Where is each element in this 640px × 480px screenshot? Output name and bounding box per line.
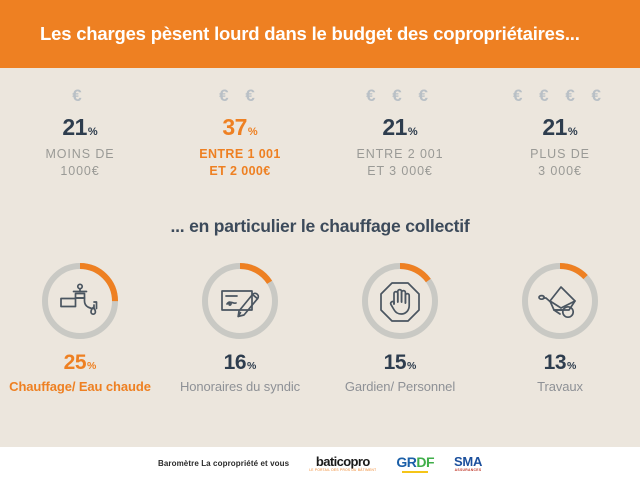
budget-percent-4: 21% [480, 116, 640, 139]
budget-label-line2: ET 3 000€ [320, 163, 480, 180]
donut-label-2: Honoraires du syndic [160, 379, 320, 394]
budget-label-1: MOINS DE 1000€ [0, 146, 160, 180]
budget-stat-1: € 21% MOINS DE 1000€ [0, 84, 160, 180]
percent-sign: % [247, 360, 256, 372]
grdf-logo-text: GRDF [396, 455, 434, 469]
budget-label-4: PLUS DE 3 000€ [480, 146, 640, 180]
donut-percent-value: 15 [384, 351, 406, 374]
donut-item-gardien: 15% Gardien/ Personnel [320, 260, 480, 394]
donut-gauge-1 [39, 260, 121, 342]
budget-stat-4: € € € € 21% PLUS DE 3 000€ [480, 84, 640, 180]
budget-percent-value: 37 [222, 114, 247, 140]
budget-percent-value: 21 [62, 114, 87, 140]
percent-sign: % [248, 126, 258, 138]
budget-stat-3: € € € 21% ENTRE 2 001 ET 3 000€ [320, 84, 480, 180]
infographic-poster: Les charges pèsent lourd dans le budget … [0, 0, 640, 480]
donut-chart-row: 25% Chauffage/ Eau chaude [0, 260, 640, 394]
budget-percent-1: 21% [0, 116, 160, 139]
wheelbarrow-icon [519, 260, 601, 342]
header-banner: Les charges pèsent lourd dans le budget … [0, 0, 640, 68]
grdf-logo-underline [402, 471, 428, 473]
donut-percent-value: 16 [224, 351, 246, 374]
budget-label-3: ENTRE 2 001 ET 3 000€ [320, 146, 480, 180]
percent-sign: % [568, 126, 578, 138]
percent-sign: % [87, 360, 96, 372]
baticopro-logo-tagline: LE PORTAIL DES PROS DU BÂTIMENT [309, 469, 376, 472]
euro-symbols-icon: € [0, 84, 160, 108]
euro-symbols-icon: € € € [320, 84, 480, 108]
euro-symbols-icon: € € € € [480, 84, 640, 108]
sma-logo-text: SMA [454, 455, 482, 468]
budget-percent-value: 21 [542, 114, 567, 140]
percent-sign: % [407, 360, 416, 372]
faucet-icon [39, 260, 121, 342]
sma-logo: SMA ASSURANCES [454, 455, 482, 473]
budget-label-line2: 1000€ [0, 163, 160, 180]
donut-gauge-4 [519, 260, 601, 342]
donut-item-chauffage: 25% Chauffage/ Eau chaude [0, 260, 160, 394]
budget-percent-2: 37% [160, 116, 320, 139]
donut-percent-value: 25 [64, 351, 86, 374]
donut-gauge-3 [359, 260, 441, 342]
budget-label-line1: ENTRE 1 001 [160, 146, 320, 163]
donut-percent-2: 16% [160, 352, 320, 373]
cheque-pen-icon [199, 260, 281, 342]
section-subtitle: ... en particulier le chauffage collecti… [0, 216, 640, 237]
sma-logo-tagline: ASSURANCES [454, 469, 482, 472]
budget-label-line2: ET 2 000€ [160, 163, 320, 180]
percent-sign: % [88, 126, 98, 138]
budget-percent-value: 21 [382, 114, 407, 140]
donut-label-1: Chauffage/ Eau chaude [0, 379, 160, 394]
donut-gauge-2 [199, 260, 281, 342]
euro-symbols-icon: € € [160, 84, 320, 108]
budget-label-line1: ENTRE 2 001 [320, 146, 480, 163]
grdf-logo: GRDF [396, 455, 434, 473]
donut-percent-4: 13% [480, 352, 640, 373]
donut-item-travaux: 13% Travaux [480, 260, 640, 394]
grdf-logo-part2: DF [416, 454, 434, 470]
donut-percent-3: 15% [320, 352, 480, 373]
budget-label-2: ENTRE 1 001 ET 2 000€ [160, 146, 320, 180]
budget-label-line1: PLUS DE [480, 146, 640, 163]
donut-label-3: Gardien/ Personnel [320, 379, 480, 394]
content-area: € 21% MOINS DE 1000€ € € 37% ENTRE 1 001… [0, 68, 640, 447]
budget-stats-row: € 21% MOINS DE 1000€ € € 37% ENTRE 1 001… [0, 84, 640, 180]
donut-percent-value: 13 [544, 351, 566, 374]
footer-bar: Baromètre La copropriété et vous baticop… [0, 447, 640, 480]
footer-logo-group: Baromètre La copropriété et vous baticop… [158, 455, 482, 473]
donut-item-honoraires: 16% Honoraires du syndic [160, 260, 320, 394]
hand-stop-icon [359, 260, 441, 342]
budget-label-line1: MOINS DE [0, 146, 160, 163]
donut-label-4: Travaux [480, 379, 640, 394]
percent-sign: % [408, 126, 418, 138]
budget-label-line2: 3 000€ [480, 163, 640, 180]
baticopro-logo-text: baticopro [309, 455, 376, 468]
percent-sign: % [567, 360, 576, 372]
budget-percent-3: 21% [320, 116, 480, 139]
footer-caption: Baromètre La copropriété et vous [158, 459, 289, 468]
page-title: Les charges pèsent lourd dans le budget … [40, 23, 580, 45]
baticopro-logo: baticopro LE PORTAIL DES PROS DU BÂTIMEN… [309, 455, 376, 472]
grdf-logo-part1: GR [396, 454, 416, 470]
budget-stat-2: € € 37% ENTRE 1 001 ET 2 000€ [160, 84, 320, 180]
donut-percent-1: 25% [0, 352, 160, 373]
